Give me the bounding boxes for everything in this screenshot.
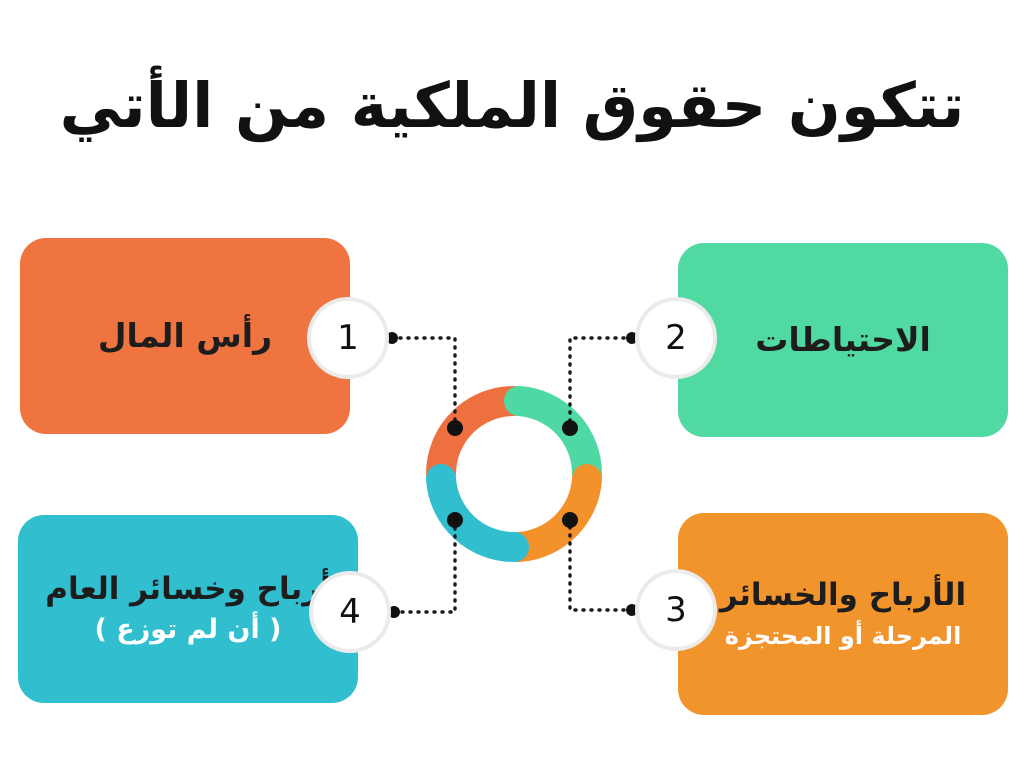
connector-dot-badge-2 (626, 332, 638, 344)
connector-dot-badge-3 (626, 604, 638, 616)
connector-dot-badge-1 (386, 332, 398, 344)
card-capital-title: رأس المال (98, 316, 272, 356)
card-retained-earnings-subtitle: المرحلة أو المحتجزة (725, 621, 962, 651)
donut-segment-year-profit (441, 479, 514, 547)
donut-segment-capital (441, 401, 514, 474)
donut-segment-retained (519, 479, 587, 547)
badge-number-3[interactable]: 3 (639, 573, 713, 647)
badge-number-1[interactable]: 1 (311, 301, 385, 375)
card-year-profit-loss[interactable]: أرباح وخسائر العام ( أن لم توزع ) (18, 515, 358, 703)
page-title: تتكون حقوق الملكية من الأتي (0, 72, 1024, 140)
connector-dot-badge-4 (388, 606, 400, 618)
badge-number-2[interactable]: 2 (639, 301, 713, 375)
badge-number-4[interactable]: 4 (313, 575, 387, 649)
card-year-profit-loss-title: أرباح وخسائر العام (45, 571, 331, 609)
card-retained-earnings[interactable]: الأرباح والخسائر المرحلة أو المحتجزة (678, 513, 1008, 715)
card-retained-earnings-title: الأرباح والخسائر (720, 577, 966, 615)
equity-donut-chart (418, 378, 610, 570)
card-year-profit-loss-subtitle: ( أن لم توزع ) (95, 613, 282, 647)
card-capital[interactable]: رأس المال (20, 238, 350, 434)
card-reserves[interactable]: الاحتياطات (678, 243, 1008, 437)
donut-segment-reserves (519, 401, 587, 474)
card-reserves-title: الاحتياطات (755, 320, 931, 360)
infographic-canvas: تتكون حقوق الملكية من الأتي (0, 0, 1024, 768)
